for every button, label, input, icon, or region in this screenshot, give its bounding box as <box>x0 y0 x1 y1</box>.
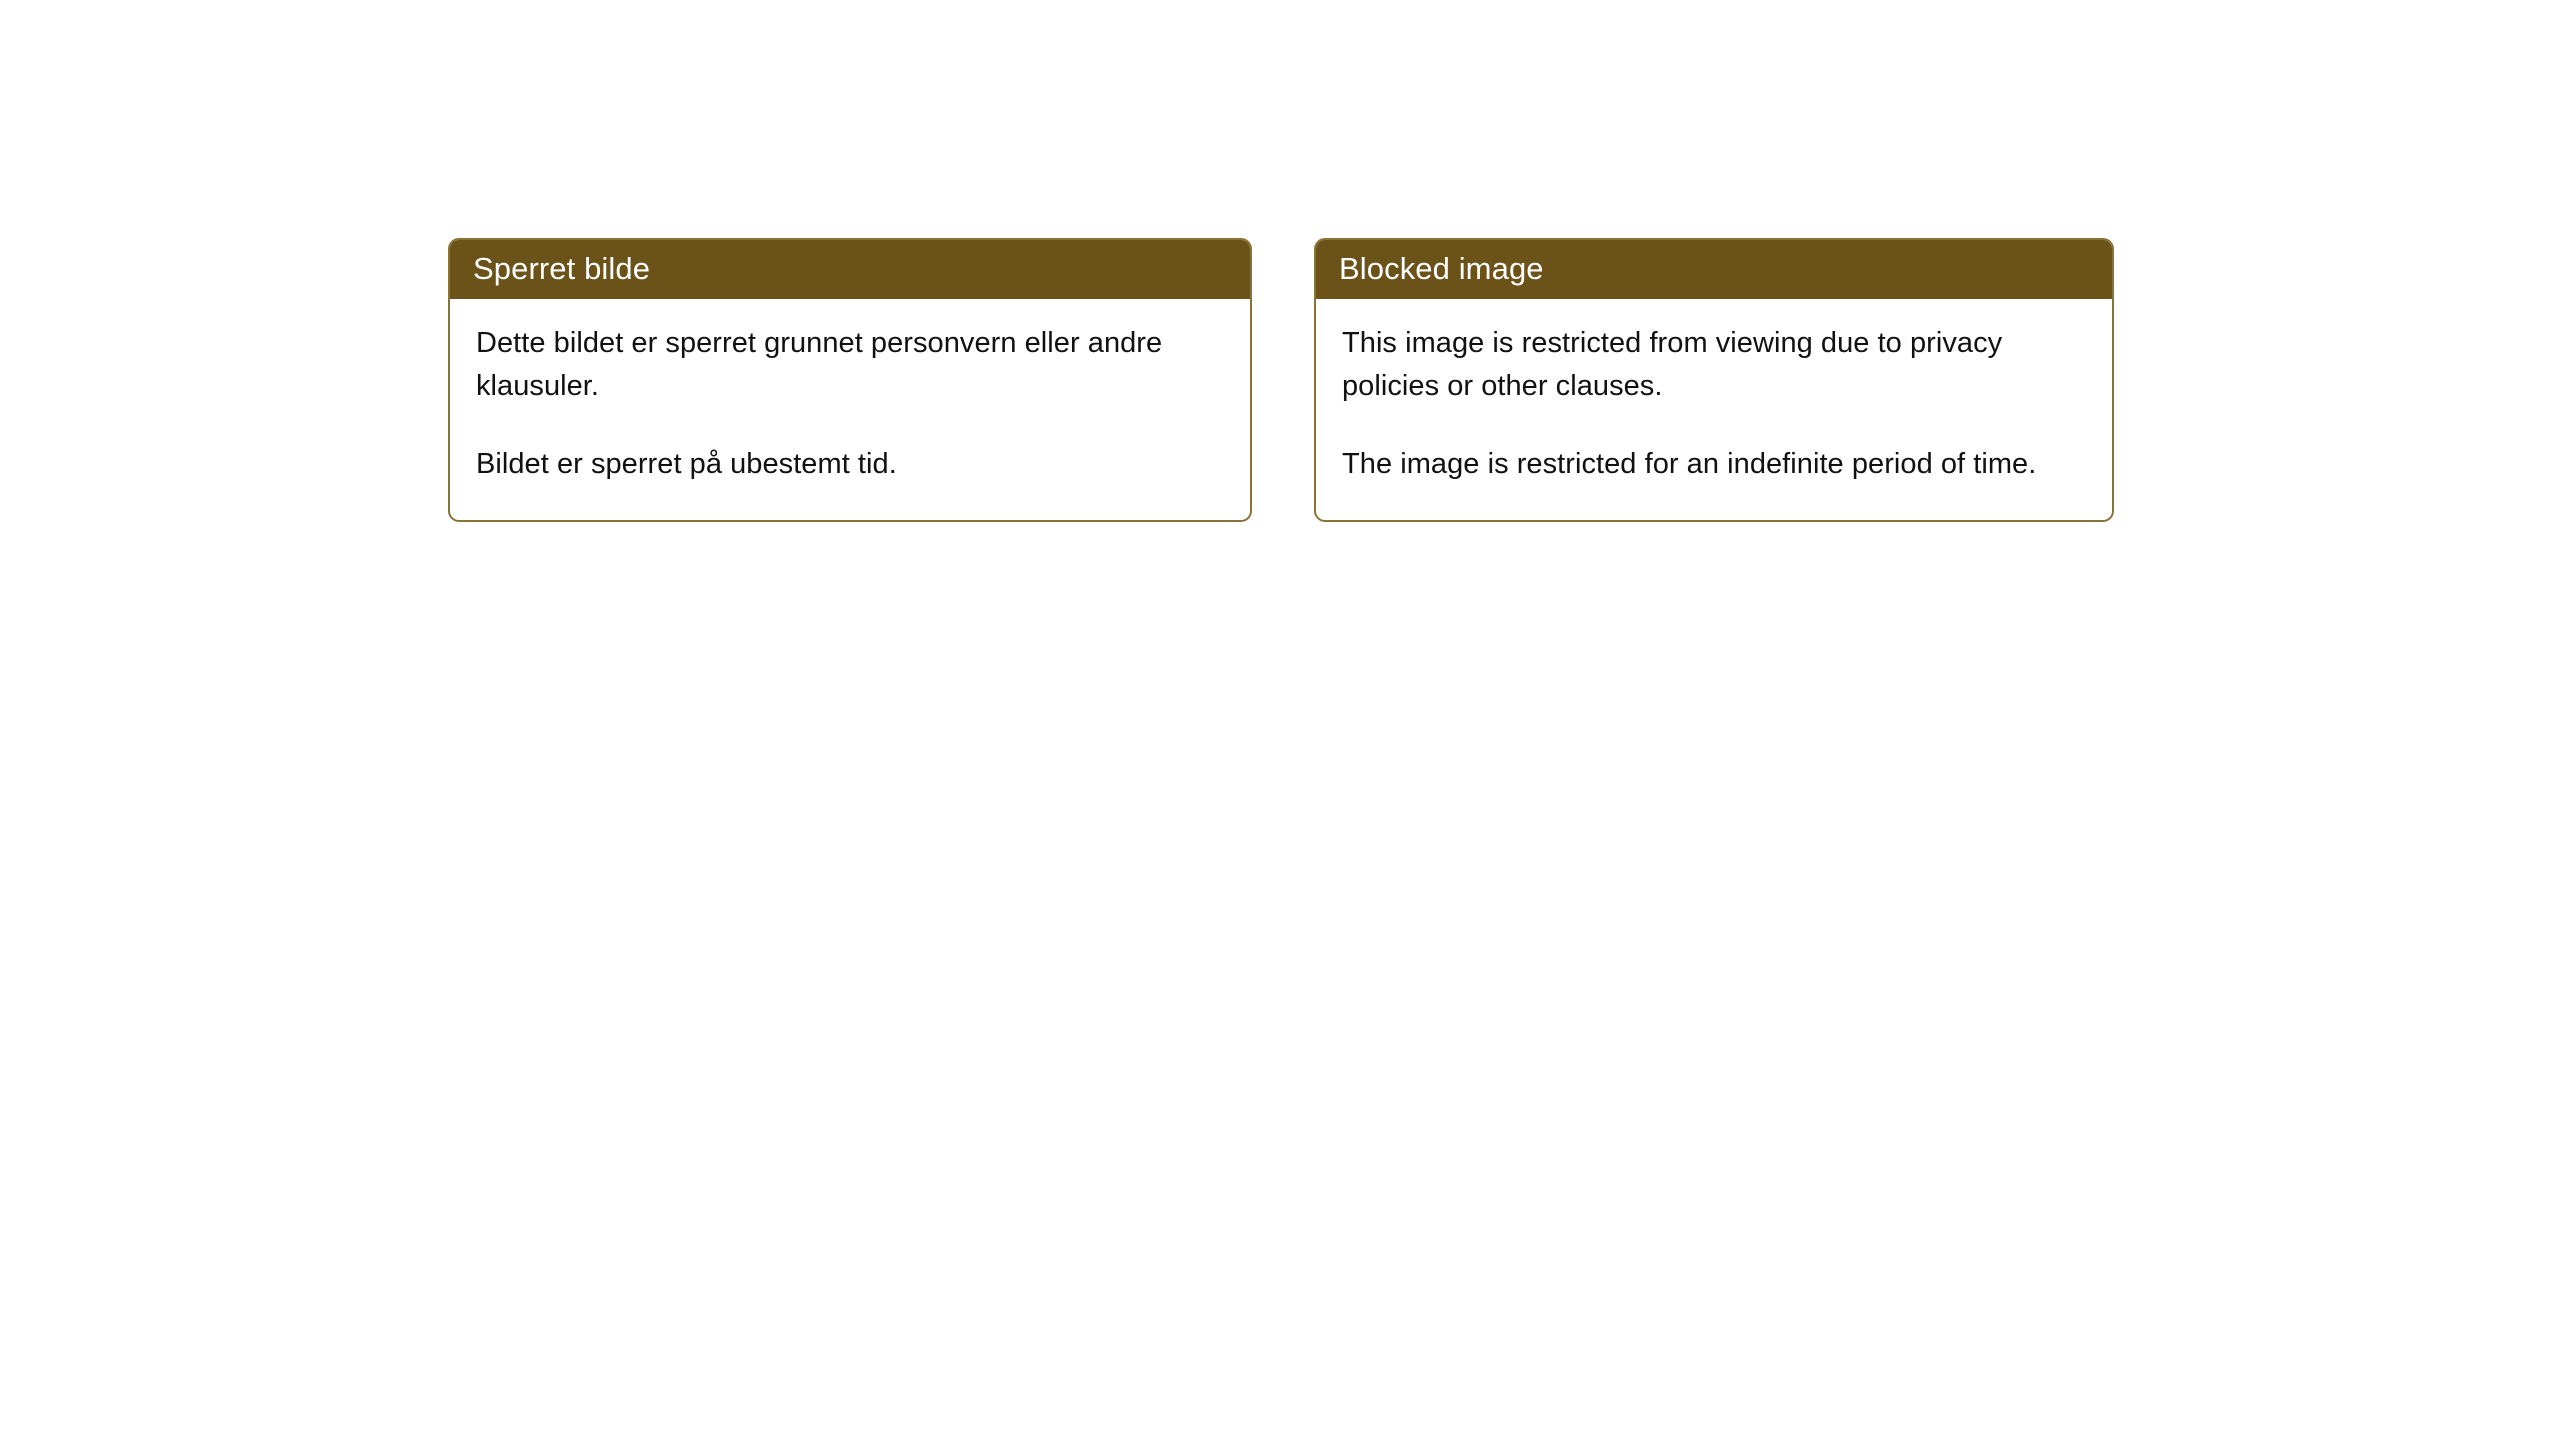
card-title-norwegian: Sperret bilde <box>473 253 650 284</box>
card-paragraph-secondary-english: The image is restricted for an indefinit… <box>1342 443 2042 486</box>
card-header-english: Blocked image <box>1314 238 2114 299</box>
card-body-norwegian: Dette bildet er sperret grunnet personve… <box>450 299 1250 520</box>
card-header-norwegian: Sperret bilde <box>448 238 1252 299</box>
blocked-image-notice-area: Sperret bilde Dette bildet er sperret gr… <box>448 238 2114 522</box>
card-paragraph-secondary-norwegian: Bildet er sperret på ubestemt tid. <box>476 443 1196 486</box>
blocked-image-card-english: Blocked image This image is restricted f… <box>1314 238 2114 522</box>
card-title-english: Blocked image <box>1339 253 1544 284</box>
card-paragraph-primary-norwegian: Dette bildet er sperret grunnet personve… <box>476 322 1196 408</box>
blocked-image-card-norwegian: Sperret bilde Dette bildet er sperret gr… <box>448 238 1252 522</box>
card-body-english: This image is restricted from viewing du… <box>1316 299 2112 520</box>
card-paragraph-primary-english: This image is restricted from viewing du… <box>1342 322 2042 408</box>
